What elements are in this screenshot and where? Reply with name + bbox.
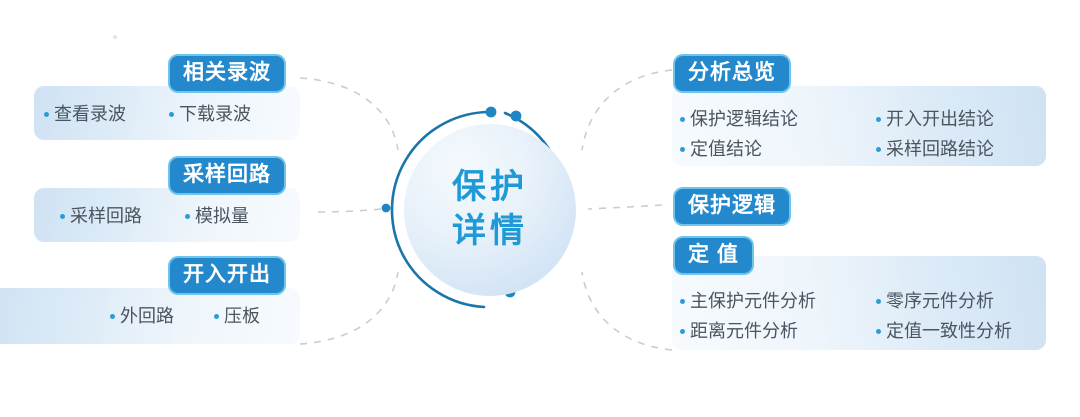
list-item[interactable]: 开入开出结论 <box>876 104 1052 134</box>
list-item[interactable]: 模拟量 <box>185 207 295 225</box>
bullet-icon <box>680 329 685 334</box>
list-item[interactable]: 外回路 <box>110 307 214 325</box>
badge-digital-io[interactable]: 开入开出 <box>170 258 284 293</box>
infographic-canvas: 保护 详情 查看录波 下载录波 相关录波 采样回路 模拟量 采样回路 外回路 <box>0 0 1080 417</box>
badge-protection-logic[interactable]: 保护逻辑 <box>675 189 789 224</box>
dashed-link-right-1 <box>582 70 672 150</box>
items-digital-io: 外回路 压板 <box>110 300 310 332</box>
list-item-label: 定值结论 <box>690 140 762 158</box>
dashed-link-left-1 <box>300 78 398 150</box>
badge-analysis-overview[interactable]: 分析总览 <box>675 56 789 91</box>
badge-sampling-circuit[interactable]: 采样回路 <box>170 158 284 193</box>
hub-node-top-left <box>486 107 497 118</box>
list-item[interactable]: 下载录波 <box>169 105 294 123</box>
list-item-label: 零序元件分析 <box>886 292 994 310</box>
items-related-recording: 查看录波 下载录波 <box>44 98 300 130</box>
list-item-label: 压板 <box>224 307 260 325</box>
dashed-link-right-2 <box>588 205 662 209</box>
badge-setting-value[interactable]: 定 值 <box>675 238 752 273</box>
list-item[interactable]: 主保护元件分析 <box>680 286 876 316</box>
list-item-label: 采样回路 <box>70 207 142 225</box>
list-item[interactable]: 采样回路 <box>60 207 185 225</box>
list-item[interactable]: 压板 <box>214 307 304 325</box>
bullet-icon <box>214 314 219 319</box>
list-item[interactable]: 零序元件分析 <box>876 286 1052 316</box>
list-item[interactable]: 保护逻辑结论 <box>680 104 876 134</box>
items-setting-value: 主保护元件分析 零序元件分析 距离元件分析 定值一致性分析 <box>680 286 1052 346</box>
list-item[interactable]: 距离元件分析 <box>680 316 876 346</box>
bullet-icon <box>44 112 49 117</box>
bullet-icon <box>876 299 881 304</box>
center-title-line2: 详情 <box>452 210 528 254</box>
bullet-icon <box>876 117 881 122</box>
bullet-icon <box>876 329 881 334</box>
list-item[interactable]: 定值结论 <box>680 134 876 164</box>
list-item-label: 定值一致性分析 <box>886 322 1012 340</box>
list-item-label: 距离元件分析 <box>690 322 798 340</box>
list-item[interactable]: 采样回路结论 <box>876 134 1052 164</box>
bullet-icon <box>169 112 174 117</box>
list-item-label: 开入开出结论 <box>886 110 994 128</box>
center-title-line1: 保护 <box>452 166 528 210</box>
list-item-label: 模拟量 <box>195 207 249 225</box>
dashed-link-left-2 <box>318 208 392 212</box>
items-sampling-circuit: 采样回路 模拟量 <box>60 200 310 232</box>
bullet-icon <box>185 214 190 219</box>
dashed-link-right-3 <box>582 272 672 350</box>
bullet-icon <box>680 299 685 304</box>
list-item[interactable]: 定值一致性分析 <box>876 316 1052 346</box>
list-item-label: 保护逻辑结论 <box>690 110 798 128</box>
list-item-label: 查看录波 <box>54 105 126 123</box>
bullet-icon <box>680 117 685 122</box>
items-analysis-overview: 保护逻辑结论 开入开出结论 定值结论 采样回路结论 <box>680 104 1052 164</box>
bullet-icon <box>876 147 881 152</box>
list-item[interactable]: 查看录波 <box>44 105 169 123</box>
list-item-label: 下载录波 <box>179 105 251 123</box>
bullet-icon <box>60 214 65 219</box>
hub-node-left <box>382 204 391 213</box>
list-item-label: 外回路 <box>120 307 174 325</box>
dashed-link-left-3 <box>300 272 398 344</box>
list-item-label: 主保护元件分析 <box>690 292 816 310</box>
list-item-label: 采样回路结论 <box>886 140 994 158</box>
bullet-icon <box>110 314 115 319</box>
center-title: 保护 详情 <box>404 124 576 296</box>
bullet-icon <box>680 147 685 152</box>
badge-related-recording[interactable]: 相关录波 <box>170 56 284 91</box>
hub-node-top-right <box>511 111 522 122</box>
